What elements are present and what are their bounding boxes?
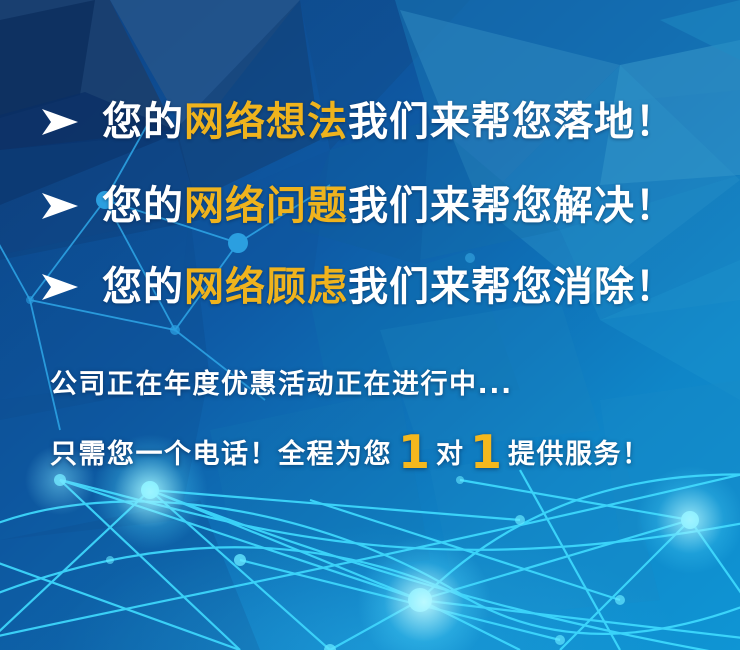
headline-row-3: 您的网络顾虑我们来帮您消除！	[40, 267, 676, 307]
headline-text-2: 您的网络问题我们来帮您解决！	[102, 186, 676, 226]
headline-highlight-2: 网络问题	[184, 183, 348, 229]
subline-service: 只需您一个电话！全程为您1对1提供服务！	[50, 432, 651, 471]
service-number-second: 1	[464, 425, 508, 479]
arrow-right-icon	[40, 106, 80, 138]
headline-text-3: 您的网络顾虑我们来帮您消除！	[102, 267, 676, 307]
headline-suffix-2: 我们来帮您解决！	[348, 183, 676, 229]
subline-promo: 公司正在年度优惠活动正在进行中...	[50, 362, 513, 401]
subline-service-part1: 只需您一个电话！全程为您	[50, 439, 392, 470]
headline-row-1: 您的网络想法我们来帮您落地！	[40, 102, 676, 142]
headline-highlight-3: 网络顾虑	[184, 264, 348, 310]
arrow-right-icon	[40, 271, 80, 303]
headline-highlight-1: 网络想法	[184, 99, 348, 145]
headline-text-1: 您的网络想法我们来帮您落地！	[102, 102, 676, 142]
banner-content: 您的网络想法我们来帮您落地！ 您的网络问题我们来帮您解决！ 您的网络顾虑我们来帮…	[0, 0, 740, 650]
headline-row-2: 您的网络问题我们来帮您解决！	[40, 186, 676, 226]
arrow-right-icon	[40, 190, 80, 222]
subline-service-part2: 提供服务！	[508, 439, 651, 470]
headline-suffix-1: 我们来帮您落地！	[348, 99, 676, 145]
headline-prefix-2: 您的	[102, 183, 184, 229]
promo-banner: 您的网络想法我们来帮您落地！ 您的网络问题我们来帮您解决！ 您的网络顾虑我们来帮…	[0, 0, 740, 650]
headline-prefix-3: 您的	[102, 264, 184, 310]
service-number-first: 1	[392, 425, 436, 479]
headline-prefix-1: 您的	[102, 99, 184, 145]
service-middle-word: 对	[436, 439, 464, 470]
headline-suffix-3: 我们来帮您消除！	[348, 264, 676, 310]
